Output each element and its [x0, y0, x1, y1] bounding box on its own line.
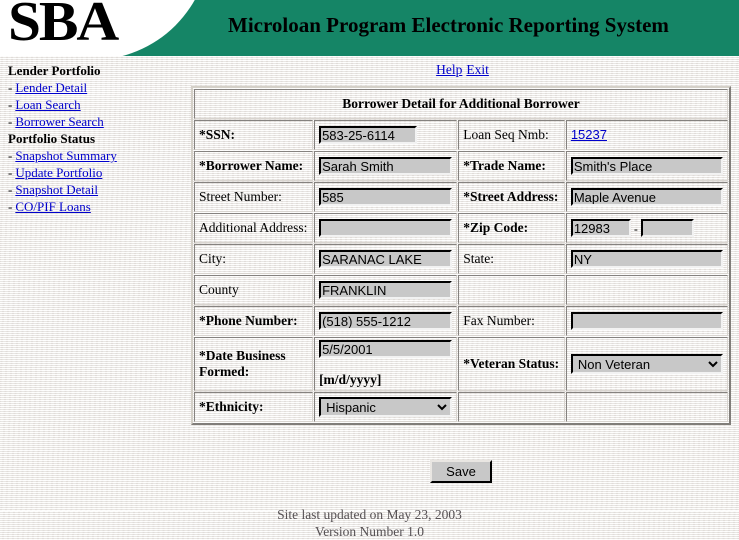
- label-text: City:: [199, 251, 226, 266]
- empty-cell-county-row-field: [566, 275, 728, 305]
- table-row-ssn: *SSN: Loan Seq Nmb: 15237: [194, 120, 728, 150]
- sidebar-item-label[interactable]: Snapshot Detail: [15, 182, 98, 197]
- field-ethnicity: Hispanic: [314, 392, 457, 422]
- label-additional-address: Additional Address:: [194, 213, 313, 243]
- street-address-input[interactable]: [571, 188, 723, 206]
- field-date-business-formed: [m/d/yyyy]: [314, 337, 457, 391]
- loan-seq-link[interactable]: 15237: [571, 127, 607, 142]
- footer-updated: Site last updated on May 23, 2003: [0, 506, 739, 523]
- sidebar-heading-portfolio-status: Portfolio Status: [0, 130, 186, 147]
- table-row-ethnicity: *Ethnicity: Hispanic: [194, 392, 728, 422]
- label-text: County: [199, 282, 239, 297]
- field-additional-address: [314, 213, 457, 243]
- field-trade-name: [566, 151, 728, 181]
- label-veteran-status: *Veteran Status:: [458, 337, 565, 391]
- date-format-hint: [m/d/yyyy]: [319, 358, 452, 388]
- footer-version: Version Number 1.0: [0, 523, 739, 540]
- field-fax-number: [566, 306, 728, 336]
- field-state: [566, 244, 728, 274]
- table-row-county: County: [194, 275, 728, 305]
- label-text: Additional Address:: [199, 220, 307, 235]
- label-state: State:: [458, 244, 565, 274]
- label-text: Loan Seq Nmb:: [463, 127, 549, 142]
- label-ssn: *SSN:: [194, 120, 313, 150]
- label-text: *Trade Name:: [463, 158, 546, 173]
- utility-links: HelpExit: [190, 62, 735, 78]
- label-text: *SSN:: [199, 127, 235, 142]
- table-row-city-state: City: State:: [194, 244, 728, 274]
- label-street-address: *Street Address:: [458, 182, 565, 212]
- label-ethnicity: *Ethnicity:: [194, 392, 313, 422]
- borrower-detail-table: Borrower Detail for Additional Borrower …: [191, 86, 731, 425]
- table-row-phone-fax: *Phone Number: Fax Number:: [194, 306, 728, 336]
- borrower-detail-form: Borrower Detail for Additional Borrower …: [191, 86, 731, 425]
- label-text: *Veteran Status:: [463, 356, 559, 371]
- zip-code-ext-input[interactable]: [641, 219, 694, 237]
- page-title: Microloan Program Electronic Reporting S…: [228, 12, 669, 38]
- exit-link[interactable]: Exit: [466, 62, 489, 77]
- label-text: *Zip Code:: [463, 220, 528, 235]
- sidebar-item-label[interactable]: CO/PIF Loans: [15, 199, 90, 214]
- sidebar-item-label[interactable]: Loan Search: [15, 97, 80, 112]
- veteran-status-select[interactable]: Non Veteran: [571, 354, 723, 374]
- ethnicity-select[interactable]: Hispanic: [319, 397, 452, 417]
- sidebar-item-loan-search[interactable]: -Loan Search: [0, 96, 186, 113]
- zip-code-input[interactable]: [571, 219, 631, 237]
- field-zip-code: -: [566, 213, 728, 243]
- table-row-additional-address: Additional Address: *Zip Code: -: [194, 213, 728, 243]
- label-phone-number: *Phone Number:: [194, 306, 313, 336]
- sidebar-item-label[interactable]: Snapshot Summary: [15, 148, 116, 163]
- phone-number-input[interactable]: [319, 312, 452, 330]
- date-business-formed-input[interactable]: [319, 340, 452, 358]
- sidebar-item-label[interactable]: Update Portfolio: [15, 165, 102, 180]
- borrower-name-input[interactable]: [319, 157, 452, 175]
- ssn-input[interactable]: [319, 126, 417, 144]
- site-header: SBA Microloan Program Electronic Reporti…: [0, 0, 739, 56]
- label-text: *Street Address:: [463, 189, 558, 204]
- field-loan-seq: 15237: [566, 120, 728, 150]
- sidebar-item-update-portfolio[interactable]: -Update Portfolio: [0, 164, 186, 181]
- label-loan-seq: Loan Seq Nmb:: [458, 120, 565, 150]
- label-fax-number: Fax Number:: [458, 306, 565, 336]
- table-row-names: *Borrower Name: *Trade Name:: [194, 151, 728, 181]
- field-phone-number: [314, 306, 457, 336]
- field-county: [314, 275, 457, 305]
- sidebar-item-lender-detail[interactable]: -Lender Detail: [0, 79, 186, 96]
- sidebar-item-snapshot-summary[interactable]: -Snapshot Summary: [0, 147, 186, 164]
- state-input[interactable]: [571, 250, 723, 268]
- county-input[interactable]: [319, 281, 452, 299]
- field-street-number: [314, 182, 457, 212]
- sidebar-nav: Lender Portfolio -Lender Detail -Loan Se…: [0, 62, 186, 215]
- field-ssn: [314, 120, 457, 150]
- field-veteran-status: Non Veteran: [566, 337, 728, 391]
- sidebar-item-borrower-search[interactable]: -Borrower Search: [0, 113, 186, 130]
- help-link[interactable]: Help: [436, 62, 462, 77]
- additional-address-input[interactable]: [319, 219, 452, 237]
- save-button[interactable]: Save: [430, 460, 492, 483]
- sidebar-item-snapshot-detail[interactable]: -Snapshot Detail: [0, 181, 186, 198]
- sidebar-heading-lender-portfolio: Lender Portfolio: [0, 62, 186, 79]
- label-trade-name: *Trade Name:: [458, 151, 565, 181]
- form-caption: Borrower Detail for Additional Borrower: [194, 89, 728, 119]
- empty-cell-ethnicity-row-field: [566, 392, 728, 422]
- label-text: *Phone Number:: [199, 313, 298, 328]
- label-city: City:: [194, 244, 313, 274]
- sidebar-item-co-pif-loans[interactable]: -CO/PIF Loans: [0, 198, 186, 215]
- label-text: *Ethnicity:: [199, 399, 264, 414]
- empty-cell-county-row-label: [458, 275, 565, 305]
- fax-number-input[interactable]: [571, 312, 723, 330]
- form-actions: Save: [191, 460, 731, 483]
- label-text: State:: [463, 251, 494, 266]
- label-county: County: [194, 275, 313, 305]
- field-street-address: [566, 182, 728, 212]
- label-date-business-formed: *Date Business Formed:: [194, 337, 313, 391]
- label-zip-code: *Zip Code:: [458, 213, 565, 243]
- trade-name-input[interactable]: [571, 157, 723, 175]
- label-street-number: Street Number:: [194, 182, 313, 212]
- table-row-date-veteran: *Date Business Formed: [m/d/yyyy] *Veter…: [194, 337, 728, 391]
- field-borrower-name: [314, 151, 457, 181]
- label-text: Fax Number:: [463, 313, 535, 328]
- table-caption-row: Borrower Detail for Additional Borrower: [194, 89, 728, 119]
- city-input[interactable]: [319, 250, 452, 268]
- label-text: Street Number:: [199, 189, 282, 204]
- sba-logo: SBA: [8, 0, 117, 50]
- sidebar-item-label[interactable]: Lender Detail: [15, 80, 87, 95]
- field-city: [314, 244, 457, 274]
- zip-separator: -: [631, 222, 641, 236]
- sidebar-item-label[interactable]: Borrower Search: [15, 114, 103, 129]
- label-borrower-name: *Borrower Name:: [194, 151, 313, 181]
- page-footer: Site last updated on May 23, 2003 Versio…: [0, 506, 739, 540]
- street-number-input[interactable]: [319, 188, 452, 206]
- table-row-street: Street Number: *Street Address:: [194, 182, 728, 212]
- label-text: *Borrower Name:: [199, 158, 303, 173]
- empty-cell-ethnicity-row-label: [458, 392, 565, 422]
- page-content: Lender Portfolio -Lender Detail -Loan Se…: [0, 56, 739, 511]
- label-text: *Date Business Formed:: [199, 348, 286, 379]
